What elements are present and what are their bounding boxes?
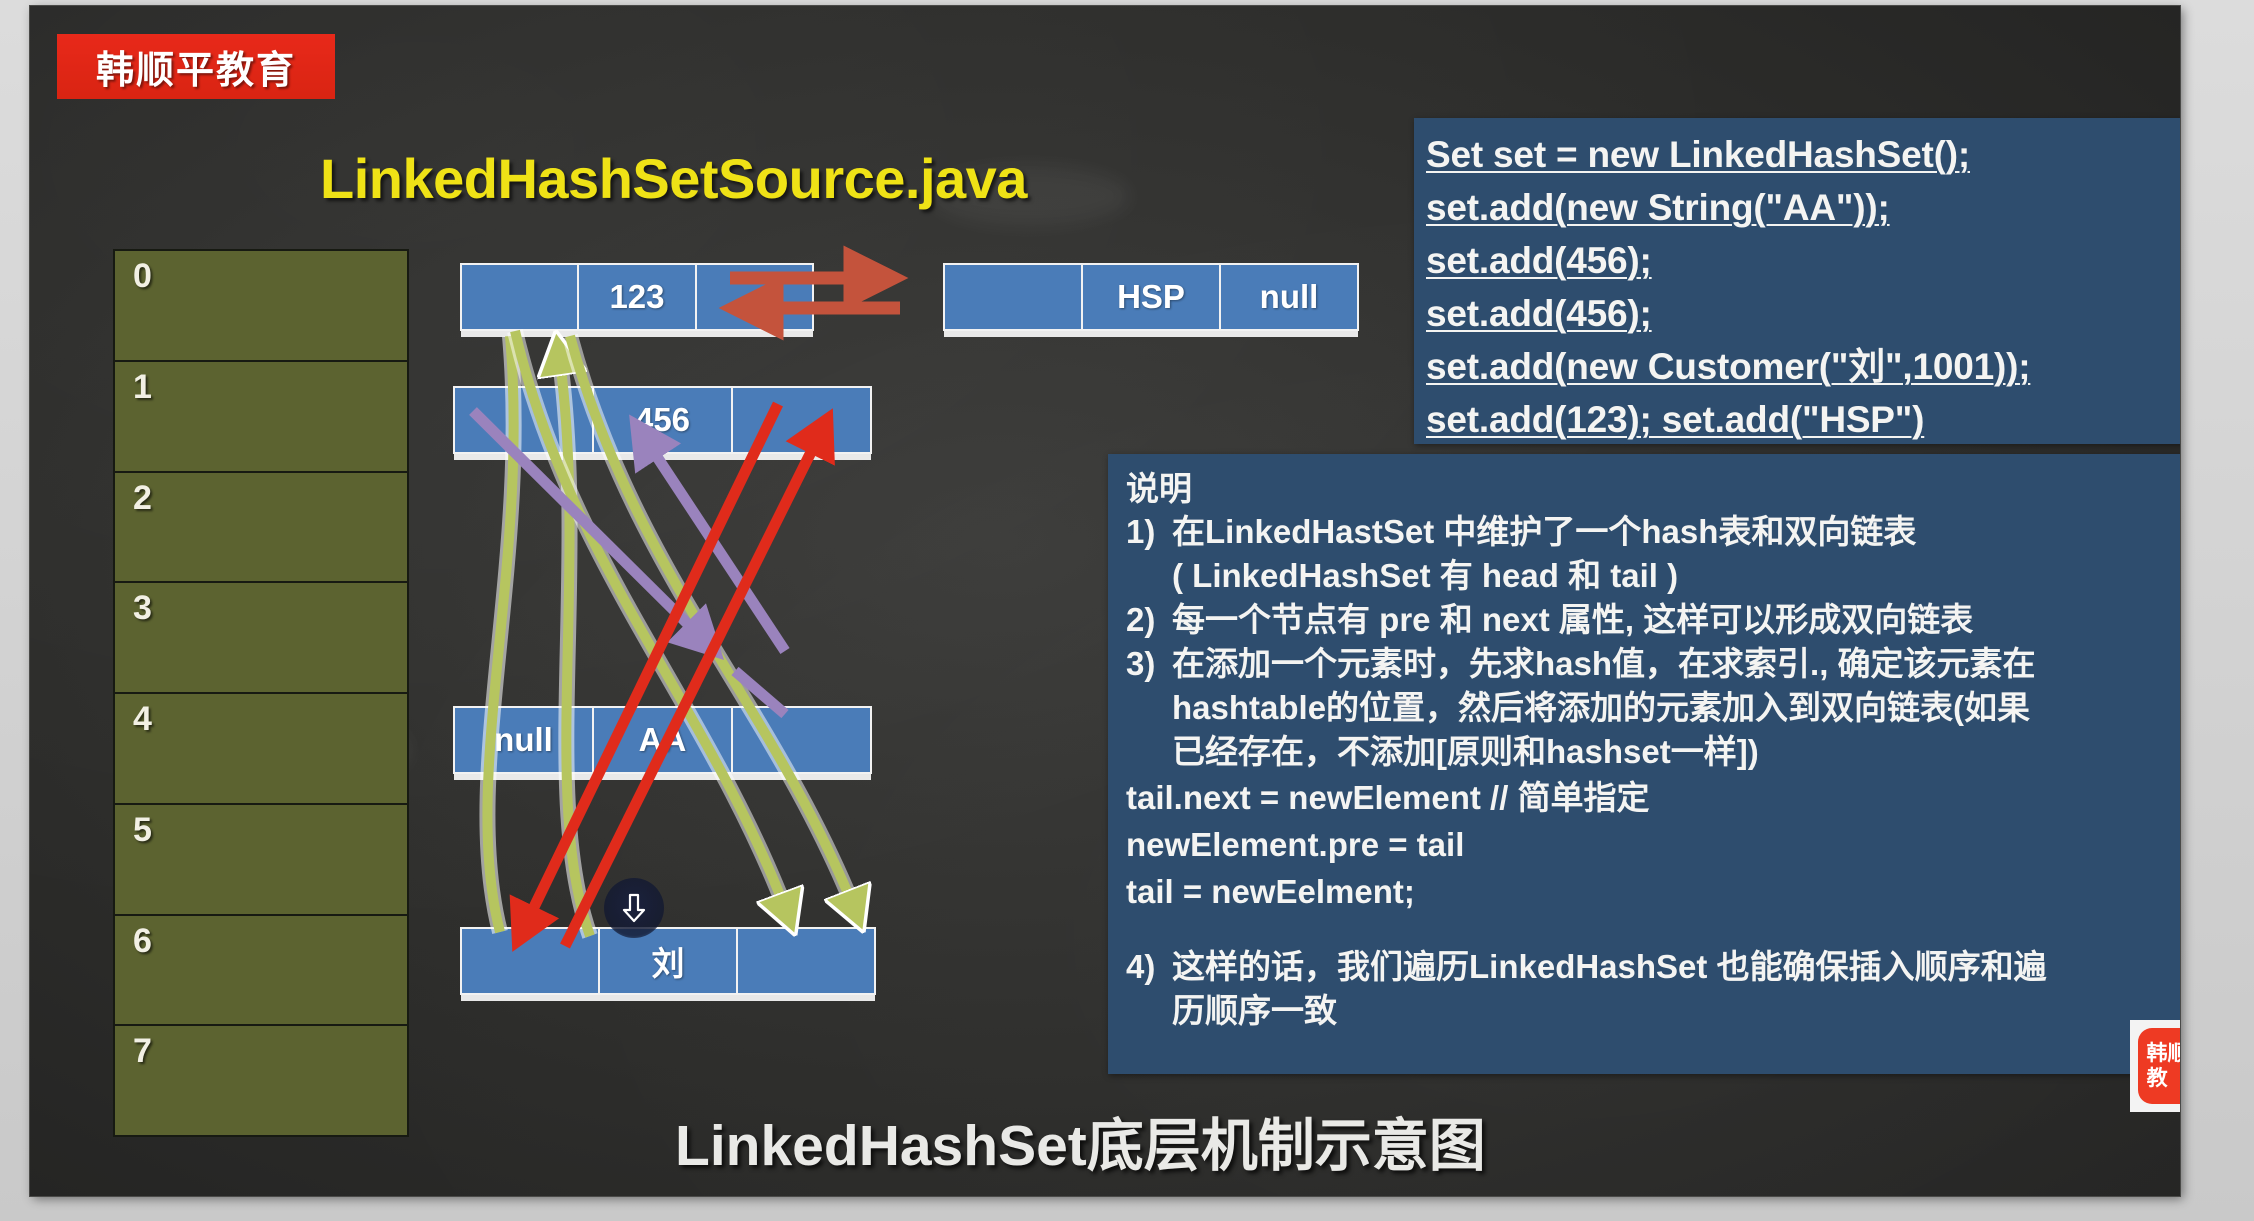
code-line: set.add(456); <box>1414 287 2180 340</box>
bucket-index: 4 <box>133 700 152 739</box>
node-cell-next <box>733 388 870 452</box>
note-item: 3) 在添加一个元素时，先求hash值，在求索引., 确定该元素在 <box>1126 642 2180 686</box>
node-cell-next <box>733 708 870 772</box>
note-item-text: 这样的话，我们遍历LinkedHashSet 也能确保插入顺序和遍 <box>1172 945 2180 989</box>
note-item-text: 在添加一个元素时，先求hash值，在求索引., 确定该元素在 <box>1172 642 2180 686</box>
page-title-java-file: LinkedHashSetSource.java <box>320 146 1027 211</box>
note-item: 2) 每一个节点有 pre 和 next 属性, 这样可以形成双向链表 <box>1126 598 2180 642</box>
code-line: set.add(456); <box>1414 234 2180 287</box>
linked-node-aa: null AA <box>453 706 872 774</box>
node-cell-value: 刘 <box>600 929 738 993</box>
brand-tag: 韩顺平教育 <box>57 34 335 99</box>
node-cell-value: 123 <box>579 265 696 329</box>
note-item-sub: ( LinkedHashSet 有 head 和 tail ) <box>1126 554 2180 598</box>
node-cell-pre <box>462 929 600 993</box>
code-line: set.add(new String("AA")); <box>1414 181 2180 234</box>
code-line: Set set = new LinkedHashSet(); <box>1414 128 2180 181</box>
watermark-badge: 韩顺平 教 育 <box>2130 1020 2180 1112</box>
node-cell-pre <box>945 265 1083 329</box>
bucket-row: 7 <box>115 1026 407 1135</box>
screenshot-root: 韩顺平教育 LinkedHashSetSource.java 0 1 2 3 4… <box>0 0 2254 1221</box>
mouse-cursor-highlight <box>604 878 664 938</box>
bucket-row: 6 <box>115 916 407 1027</box>
watermark-line-1: 韩顺平 <box>2147 1043 2181 1064</box>
bucket-index: 7 <box>133 1032 152 1071</box>
node-cell-next: null <box>1221 265 1357 329</box>
note-spacer <box>1126 915 2180 945</box>
note-item-wrap-line: 已经存在，不添加[原则和hashset一样]) <box>1126 730 2180 774</box>
hashtable-array: 0 1 2 3 4 5 6 7 <box>113 249 409 1137</box>
slide-chalkboard: 韩顺平教育 LinkedHashSetSource.java 0 1 2 3 4… <box>30 6 2180 1196</box>
node-cell-next <box>697 265 812 329</box>
note-code-line: tail.next = newElement // 简单指定 <box>1126 774 2180 821</box>
brand-tag-label: 韩顺平教育 <box>96 39 296 94</box>
node-cell-pre <box>455 388 594 452</box>
bucket-row: 1 <box>115 362 407 473</box>
linked-node-liu: 刘 <box>460 927 876 995</box>
bucket-row: 4 <box>115 694 407 805</box>
note-item-number: 2) <box>1126 598 1172 642</box>
bucket-index: 6 <box>133 922 152 961</box>
explanation-panel: 说明 1) 在LinkedHastSet 中维护了一个hash表和双向链表 ( … <box>1108 454 2180 1074</box>
note-item-text: 在LinkedHastSet 中维护了一个hash表和双向链表 <box>1172 510 2180 554</box>
arrow-red-up-to-456 <box>565 424 825 946</box>
node-cell-next <box>738 929 874 993</box>
linked-node-123: 123 <box>460 263 814 331</box>
note-code-line: newElement.pre = tail <box>1126 821 2180 868</box>
arrow-purple-up-to-456 <box>640 431 785 651</box>
node-cell-pre: null <box>455 708 594 772</box>
bucket-index: 5 <box>133 811 152 850</box>
arrow-red-down-to-liu <box>520 404 778 936</box>
bucket-index: 3 <box>133 589 152 628</box>
note-item-wrap-line: hashtable的位置，然后将添加的元素加入到双向链表(如果 <box>1126 686 2180 730</box>
note-item-text: 每一个节点有 pre 和 next 属性, 这样可以形成双向链表 <box>1172 598 2180 642</box>
bucket-row: 5 <box>115 805 407 916</box>
node-cell-value: 456 <box>594 388 733 452</box>
bucket-row: 3 <box>115 583 407 694</box>
node-cell-pre <box>462 265 579 329</box>
bucket-index: 2 <box>133 479 152 518</box>
note-item-sub: 历顺序一致 <box>1126 989 2180 1033</box>
note-item-number: 4) <box>1126 945 1172 989</box>
code-line: set.add(new Customer("刘",1001)); <box>1414 340 2180 393</box>
note-heading: 说明 <box>1126 468 2180 510</box>
node-cell-value: AA <box>594 708 733 772</box>
note-item-number: 3) <box>1126 642 1172 686</box>
bucket-index: 1 <box>133 368 152 407</box>
code-line: set.add(123); set.add("HSP") <box>1414 393 2180 446</box>
note-item: 4) 这样的话，我们遍历LinkedHashSet 也能确保插入顺序和遍 <box>1126 945 2180 989</box>
note-item-number: 1) <box>1126 510 1172 554</box>
arrow-purple-down-to-aa <box>473 411 785 714</box>
diagram-caption: LinkedHashSet底层机制示意图 <box>675 1100 1486 1182</box>
watermark-line-2: 教 育 <box>2147 1068 2180 1089</box>
linked-node-456: 456 <box>453 386 872 454</box>
note-code-line: tail = newEelment; <box>1126 868 2180 915</box>
code-snippet-panel: Set set = new LinkedHashSet(); set.add(n… <box>1414 118 2180 444</box>
linked-node-hsp: HSP null <box>943 263 1359 331</box>
bucket-index: 0 <box>133 257 152 296</box>
note-item: 1) 在LinkedHastSet 中维护了一个hash表和双向链表 <box>1126 510 2180 554</box>
down-arrow-cursor-icon <box>621 893 647 923</box>
bucket-row: 0 <box>115 251 407 362</box>
bucket-row: 2 <box>115 473 407 584</box>
node-cell-value: HSP <box>1083 265 1221 329</box>
